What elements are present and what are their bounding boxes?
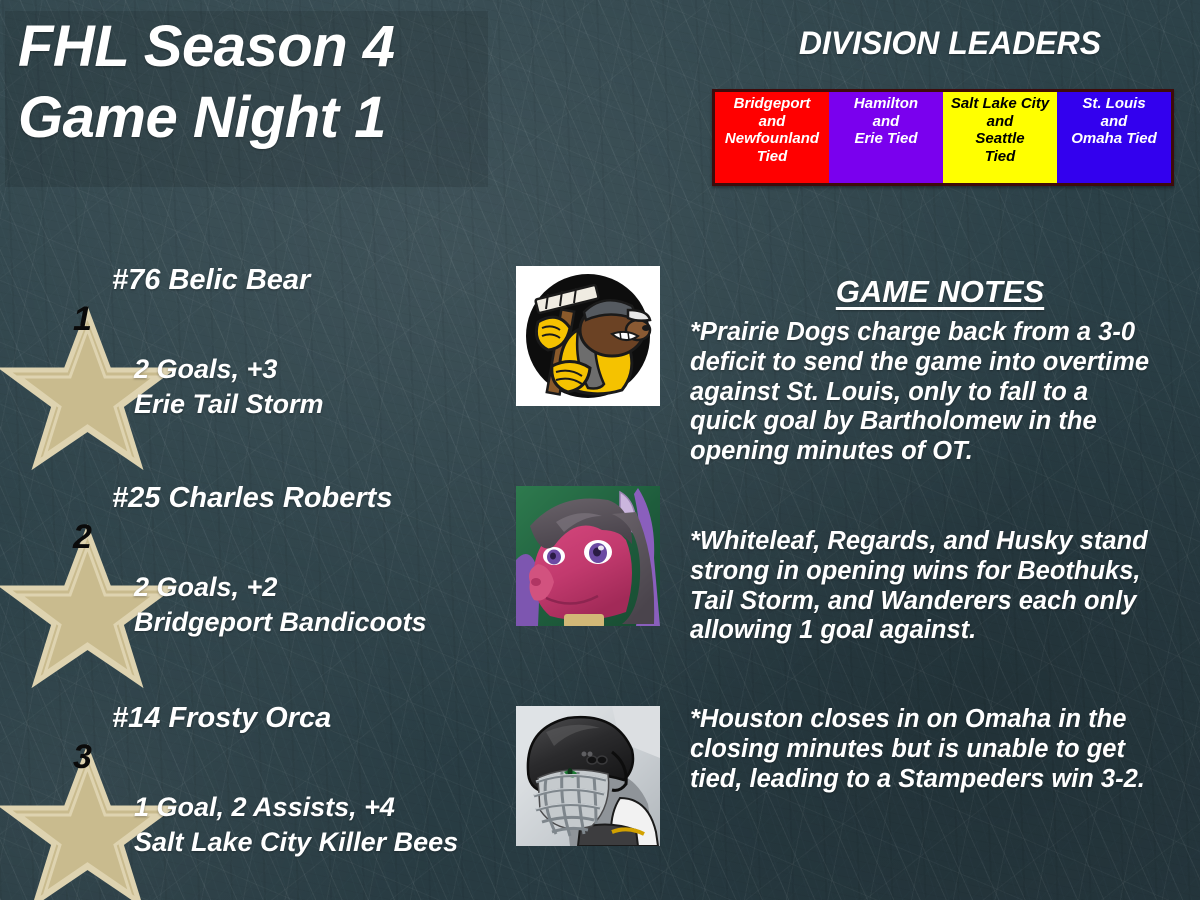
- star-player-stats: 2 Goals, +2 Bridgeport Bandicoots: [134, 570, 427, 639]
- division-cell-st-louis-omaha: St. Louis and Omaha Tied: [1057, 92, 1171, 183]
- bear-mascot-image: [516, 266, 660, 406]
- star-player-stats: 2 Goals, +3 Erie Tail Storm: [134, 352, 324, 421]
- division-leaders-heading: DIVISION LEADERS: [700, 25, 1200, 62]
- division-cell-bridgeport-newfounland: Bridgeport and Newfounland Tied: [715, 92, 829, 183]
- game-note: *Whiteleaf, Regards, and Husky stand str…: [690, 527, 1158, 646]
- game-notes-heading: GAME NOTES: [690, 274, 1190, 310]
- presentation-slide: FHL Season 4 Game Night 1 DIVISION LEADE…: [0, 0, 1200, 900]
- page-title: FHL Season 4 Game Night 1: [18, 12, 618, 154]
- star-player-name: #25 Charles Roberts: [112, 482, 392, 515]
- dragon-character-image: [516, 486, 660, 626]
- star-player-stats: 1 Goal, 2 Assists, +4 Salt Lake City Kil…: [134, 790, 458, 859]
- goalie-helmet-image: [516, 706, 660, 846]
- division-cell-hamilton-erie: Hamilton and Erie Tied: [829, 92, 943, 183]
- game-note: *Prairie Dogs charge back from a 3-0 def…: [690, 318, 1158, 467]
- division-cell-salt-lake-city-seattle: Salt Lake City and Seattle Tied: [943, 92, 1057, 183]
- division-leaders-table: Bridgeport and Newfounland Tied Hamilton…: [712, 89, 1174, 186]
- star-player-name: #14 Frosty Orca: [112, 702, 331, 735]
- star-player-name: #76 Belic Bear: [112, 264, 310, 297]
- game-note: *Houston closes in on Omaha in the closi…: [690, 705, 1158, 794]
